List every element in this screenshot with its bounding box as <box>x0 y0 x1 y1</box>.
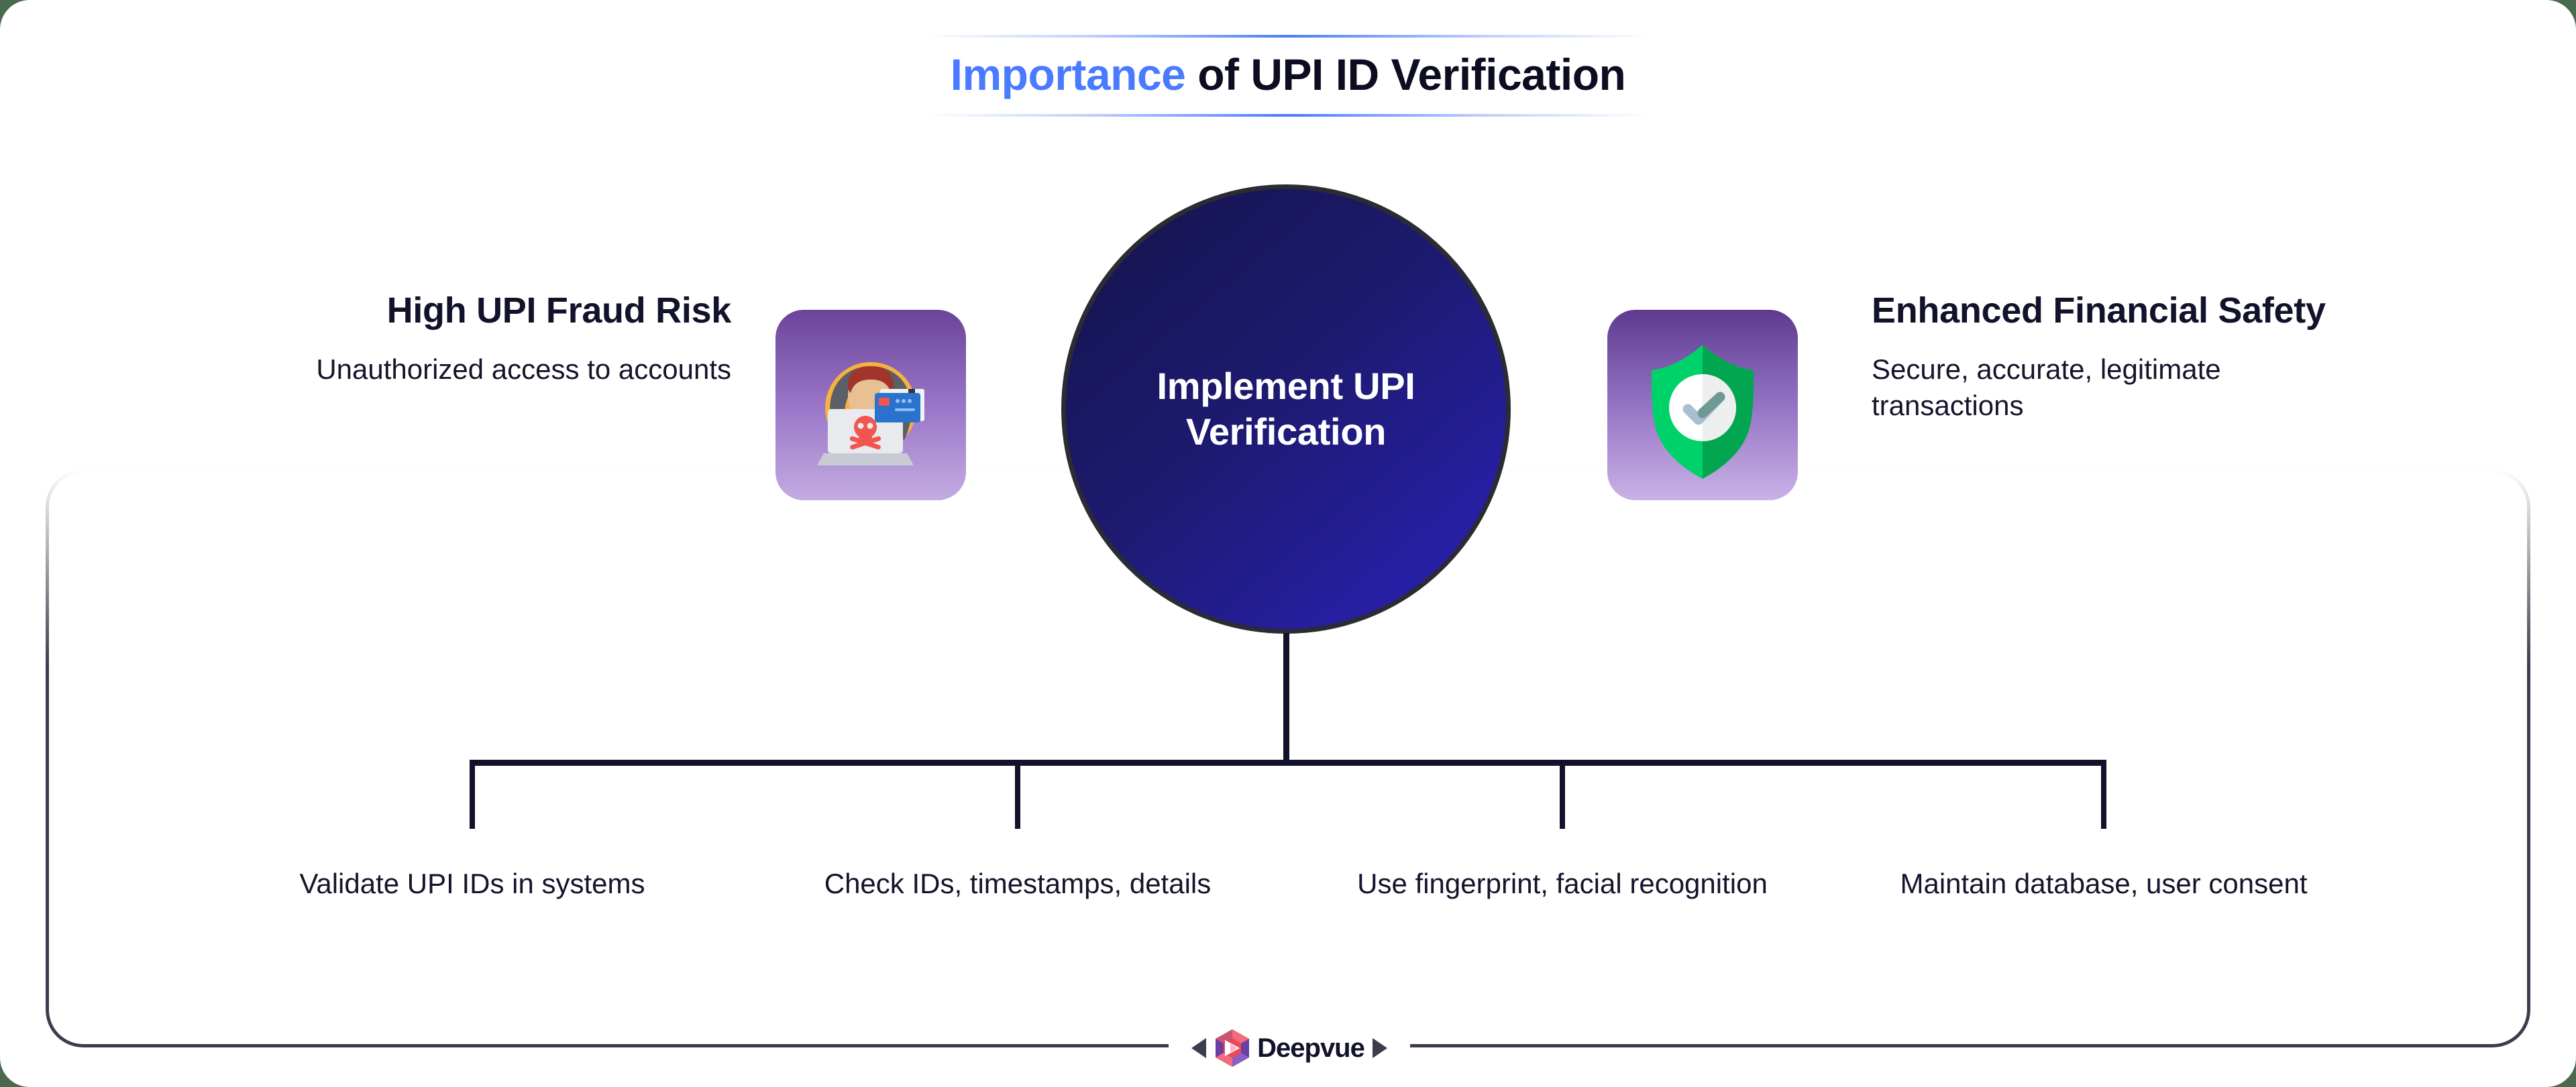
connector-drop-1 <box>470 760 475 829</box>
connector-horizontal-bar <box>470 760 2106 766</box>
fraud-hacker-icon <box>775 310 966 500</box>
center-circle-node: Implement UPI Verification <box>1061 184 1511 634</box>
connector-stem <box>1283 633 1289 764</box>
page-title-rest: of UPI ID Verification <box>1185 50 1625 99</box>
step-label-2: Check IDs, timestamps, details <box>810 865 1226 902</box>
title-divider-bottom <box>926 114 1650 117</box>
shield-check-icon <box>1607 310 1798 500</box>
center-circle-label: Implement UPI Verification <box>1125 363 1447 455</box>
page-title: Importance of UPI ID Verification <box>926 38 1650 114</box>
deepvue-hexagon-logo <box>1214 1029 1250 1068</box>
left-callout-heading: High UPI Fraud Risk <box>255 290 731 333</box>
title-block: Importance of UPI ID Verification <box>926 35 1650 117</box>
infographic-page: Importance of UPI ID Verification High U… <box>0 0 2576 1087</box>
connector-drop-4 <box>2101 760 2106 829</box>
left-callout-subtext: Unauthorized access to accounts <box>255 351 731 388</box>
footer-brand-logo: Deepvue <box>1169 1025 1410 1072</box>
right-callout-subtext: Secure, accurate, legitimate transaction… <box>1872 351 2368 424</box>
right-callout-text: Enhanced Financial Safety Secure, accura… <box>1872 290 2368 424</box>
right-callout-heading: Enhanced Financial Safety <box>1872 290 2368 333</box>
step-label-4: Maintain database, user consent <box>1896 865 2312 902</box>
left-callout-text: High UPI Fraud Risk Unauthorized access … <box>255 290 731 388</box>
connector-drop-3 <box>1560 760 1565 829</box>
step-label-1: Validate UPI IDs in systems <box>264 865 680 902</box>
left-triangle-marker-icon <box>1190 1037 1207 1060</box>
connector-drop-2 <box>1015 760 1020 829</box>
step-label-3: Use fingerprint, facial recognition <box>1354 865 1770 902</box>
brand-wordmark: Deepvue <box>1257 1035 1364 1062</box>
page-title-accent: Importance <box>951 50 1186 99</box>
right-triangle-marker-icon <box>1371 1037 1389 1060</box>
